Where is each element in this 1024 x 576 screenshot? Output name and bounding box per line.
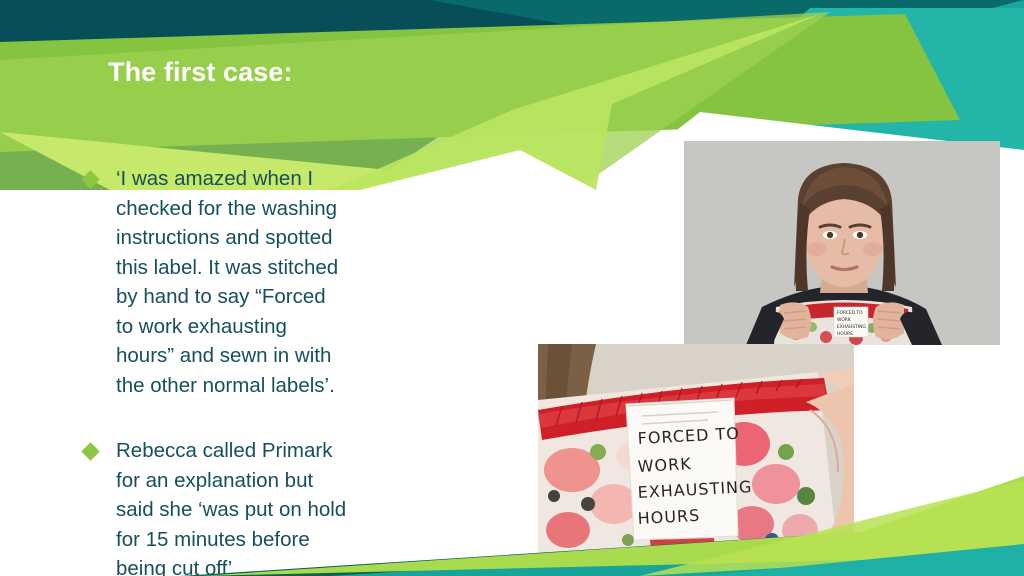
presentation-slide: The first case: ‘I was amazed when I che… [0, 0, 1024, 576]
svg-text:FORCED TO: FORCED TO [837, 310, 863, 316]
body-text-column: ‘I was amazed when I checked for the was… [84, 164, 476, 576]
garment-label-closeup-photo: FORCED TO WORK EXHAUSTING HOURS [538, 344, 854, 556]
svg-text:EXHAUSTING: EXHAUSTING [837, 324, 866, 330]
woman-holding-garment-photo: FORCED TO WORK EXHAUSTING HOURS [684, 141, 1000, 345]
svg-text:HOURS: HOURS [637, 506, 701, 528]
diamond-bullet-icon [81, 170, 99, 188]
bullet-paragraph: ‘I was amazed when I checked for the was… [116, 164, 338, 400]
diamond-bullet-icon [81, 442, 99, 460]
svg-text:WORK: WORK [637, 454, 692, 476]
svg-text:WORK: WORK [837, 317, 851, 323]
list-item: Rebecca called Primark for an explanatio… [84, 436, 476, 576]
svg-text:HOURS: HOURS [837, 331, 853, 337]
page-title: The first case: [108, 57, 293, 88]
list-item: ‘I was amazed when I checked for the was… [84, 164, 476, 400]
bullet-paragraph: Rebecca called Primark for an explanatio… [116, 436, 346, 576]
label-patch: FORCED TO WORK EXHAUSTING HOURS [626, 398, 753, 540]
